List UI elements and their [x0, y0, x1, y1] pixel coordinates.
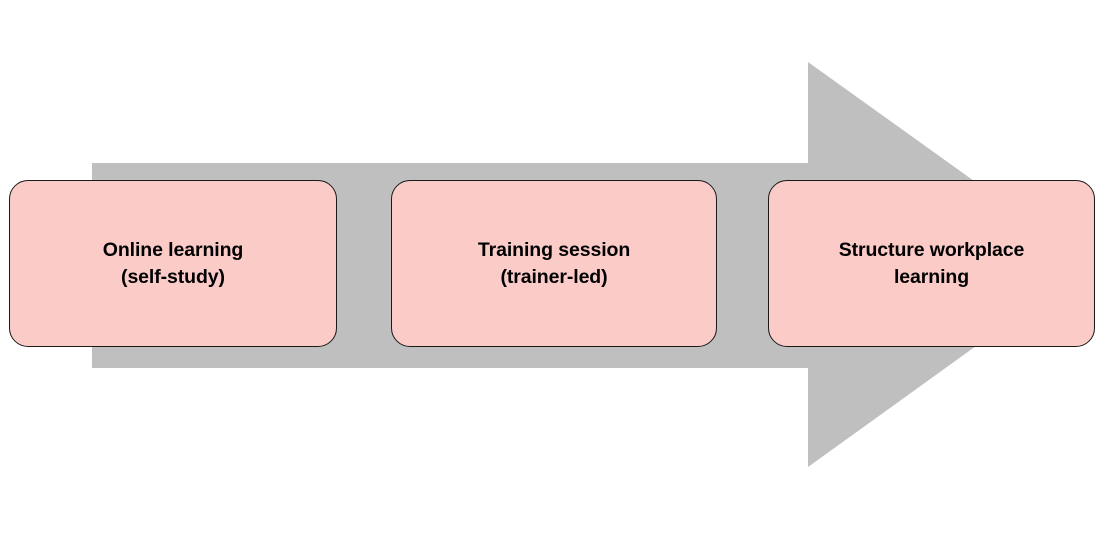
stage-box-structure-workplace-learning[interactable]: Structure workplace learning	[768, 180, 1095, 347]
stage-label-online-learning: Online learning (self-study)	[97, 237, 249, 291]
stage-box-training-session[interactable]: Training session (trainer-led)	[391, 180, 717, 347]
diagram-canvas: Online learning (self-study) Training se…	[0, 0, 1104, 537]
stage-box-online-learning[interactable]: Online learning (self-study)	[9, 180, 337, 347]
stage-label-structure-workplace-learning: Structure workplace learning	[833, 237, 1031, 291]
stage-label-training-session: Training session (trainer-led)	[472, 237, 636, 291]
